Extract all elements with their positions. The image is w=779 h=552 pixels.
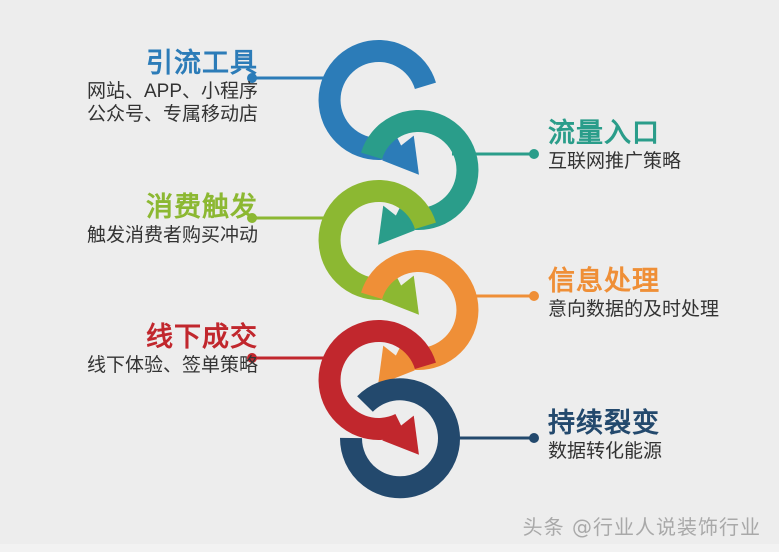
watermark-text: 头条 @行业人说装饰行业 bbox=[523, 511, 761, 540]
label-subtitle-line: 触发消费者购买冲动 bbox=[30, 225, 258, 248]
label-title-consumption-trigger: 消费触发 bbox=[30, 192, 258, 222]
label-title-offline-deal: 线下成交 bbox=[30, 322, 258, 352]
label-title-continuous-fission: 持续裂变 bbox=[548, 408, 768, 438]
label-block-consumption-trigger: 消费触发 触发消费者购买冲动 bbox=[30, 192, 258, 248]
label-title-traffic-entry: 流量入口 bbox=[548, 118, 768, 148]
label-title-drainage-tool: 引流工具 bbox=[30, 48, 258, 78]
label-subtitle-line: 数据转化能源 bbox=[548, 441, 768, 464]
label-subtitle-continuous-fission: 数据转化能源 bbox=[548, 441, 768, 464]
infographic-canvas: 引流工具 网站、APP、小程序 公众号、专属移动店 流量入口 互联网推广策略 消… bbox=[0, 0, 779, 552]
label-block-drainage-tool: 引流工具 网站、APP、小程序 公众号、专属移动店 bbox=[30, 48, 258, 127]
label-subtitle-traffic-entry: 互联网推广策略 bbox=[548, 151, 768, 174]
label-block-information-processing: 信息处理 意向数据的及时处理 bbox=[548, 266, 768, 322]
label-subtitle-line: 网站、APP、小程序 bbox=[30, 81, 258, 104]
label-subtitle-offline-deal: 线下体验、签单策略 bbox=[30, 355, 258, 378]
label-title-information-processing: 信息处理 bbox=[548, 266, 768, 296]
label-subtitle-consumption-trigger: 触发消费者购买冲动 bbox=[30, 225, 258, 248]
label-subtitle-line: 线下体验、签单策略 bbox=[30, 355, 258, 378]
label-block-offline-deal: 线下成交 线下体验、签单策略 bbox=[30, 322, 258, 378]
label-subtitle-line: 互联网推广策略 bbox=[548, 151, 768, 174]
label-subtitle-line: 公众号、专属移动店 bbox=[30, 104, 258, 127]
label-subtitle-line: 意向数据的及时处理 bbox=[548, 299, 768, 322]
label-subtitle-information-processing: 意向数据的及时处理 bbox=[548, 299, 768, 322]
label-subtitle-drainage-tool: 网站、APP、小程序 公众号、专属移动店 bbox=[30, 81, 258, 127]
label-block-continuous-fission: 持续裂变 数据转化能源 bbox=[548, 408, 768, 464]
label-block-traffic-entry: 流量入口 互联网推广策略 bbox=[548, 118, 768, 174]
connector-line-6 bbox=[452, 433, 539, 443]
bottom-strip bbox=[0, 544, 779, 552]
